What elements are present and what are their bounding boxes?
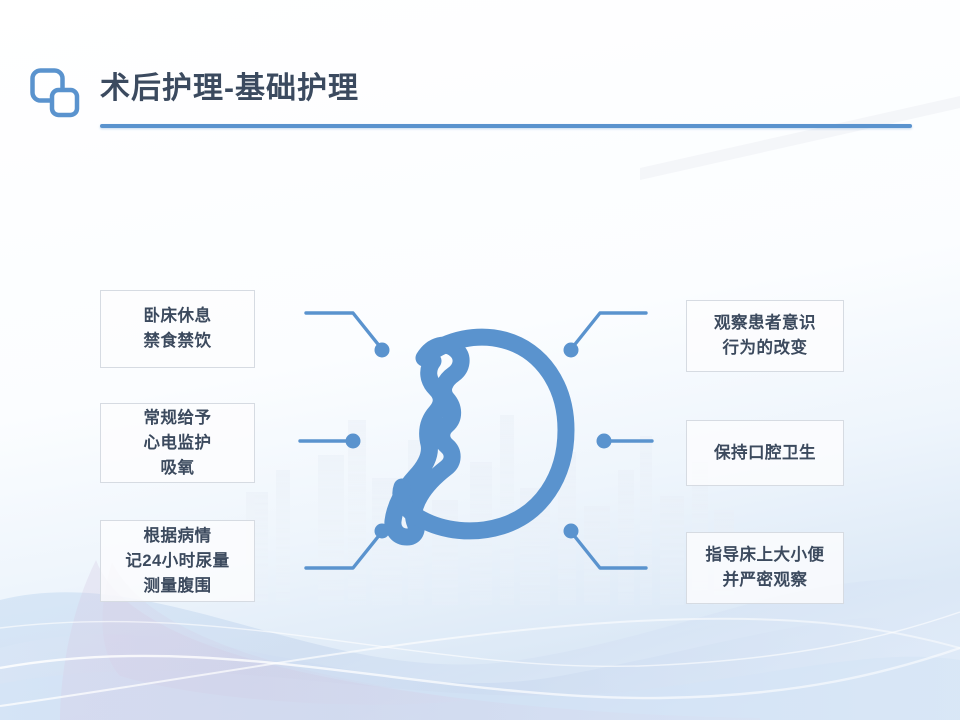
- info-box-urine-output[interactable]: 根据病情 记24小时尿量 测量腹围: [100, 520, 255, 602]
- info-line: 心电监护: [101, 431, 254, 456]
- connector-dot-left-top: [375, 343, 390, 358]
- info-line: 观察患者意识: [687, 311, 843, 336]
- info-line: 测量腹围: [101, 574, 254, 599]
- connector-left-bottom: [306, 533, 381, 568]
- stomach-outline-icon: [393, 337, 566, 537]
- connector-dot-right-middle: [597, 434, 612, 449]
- info-line: 保持口腔卫生: [687, 441, 843, 466]
- connector-dot-left-middle: [346, 434, 361, 449]
- info-box-consciousness[interactable]: 观察患者意识 行为的改变: [686, 300, 844, 372]
- info-box-monitoring[interactable]: 常规给予 心电监护 吸氧: [100, 403, 255, 483]
- info-box-bedpan-guidance[interactable]: 指导床上大小便 并严密观察: [686, 532, 844, 604]
- info-line: 并严密观察: [687, 568, 843, 593]
- info-line: 行为的改变: [687, 336, 843, 361]
- connector-dot-right-top: [564, 343, 579, 358]
- slide-canvas: 术后护理-基础护理: [0, 0, 960, 720]
- info-box-bed-rest[interactable]: 卧床休息 禁食禁饮: [100, 290, 255, 368]
- info-line: 卧床休息: [101, 304, 254, 329]
- info-line: 禁食禁饮: [101, 329, 254, 354]
- info-line: 记24小时尿量: [101, 549, 254, 574]
- info-line: 吸氧: [101, 456, 254, 481]
- info-box-oral-hygiene[interactable]: 保持口腔卫生: [686, 420, 844, 486]
- info-line: 根据病情: [101, 524, 254, 549]
- info-line: 指导床上大小便: [687, 543, 843, 568]
- info-line: 常规给予: [101, 406, 254, 431]
- connector-dot-right-bottom: [564, 524, 579, 539]
- connector-left-top: [306, 313, 381, 348]
- connector-right-top: [572, 313, 646, 348]
- connector-right-bottom: [572, 533, 646, 568]
